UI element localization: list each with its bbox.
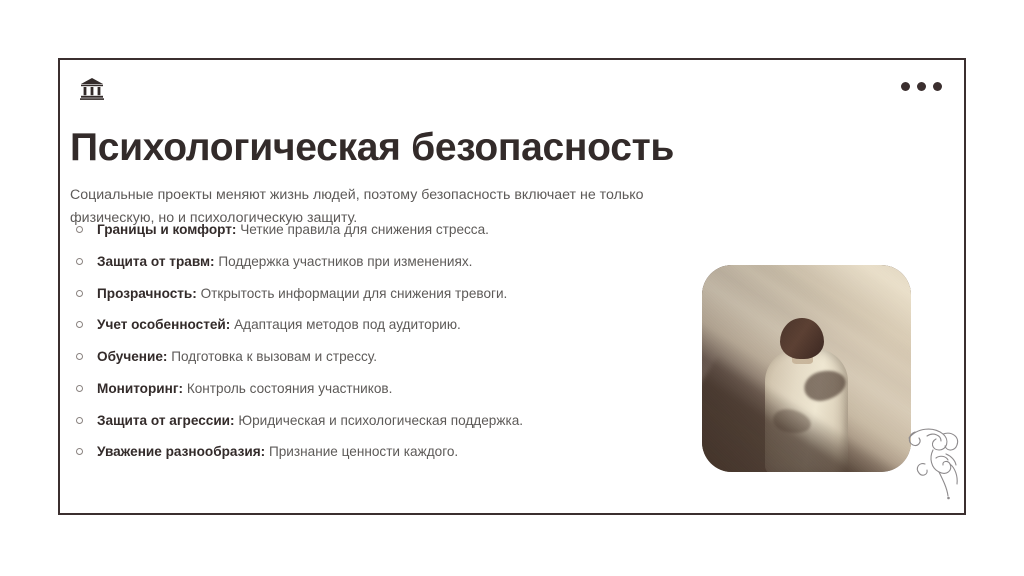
bullet-circle-icon (76, 417, 83, 424)
bullet-circle-icon (76, 226, 83, 233)
list-item-term: Уважение разнообразия: (97, 444, 265, 459)
principles-list: Границы и комфорт: Четкие правила для сн… (72, 221, 692, 475)
list-item-desc: Поддержка участников при изменениях. (215, 254, 473, 269)
list-item: Защита от агрессии: Юридическая и психол… (72, 412, 692, 429)
list-item: Учет особенностей: Адаптация методов под… (72, 316, 692, 333)
list-item-desc: Адаптация методов под аудиторию. (230, 317, 461, 332)
bullet-circle-icon (76, 385, 83, 392)
list-item-desc: Открытость информации для снижения трево… (197, 286, 508, 301)
list-item: Уважение разнообразия: Признание ценност… (72, 443, 692, 460)
ellipsis-dot-1 (901, 82, 910, 91)
list-item-term: Прозрачность: (97, 286, 197, 301)
bank-building-icon (78, 74, 106, 102)
list-item-term: Защита от травм: (97, 254, 215, 269)
bullet-circle-icon (76, 290, 83, 297)
list-item: Мониторинг: Контроль состояния участнико… (72, 380, 692, 397)
list-item-term: Границы и комфорт: (97, 222, 236, 237)
list-item-desc: Контроль состояния участников. (183, 381, 392, 396)
self-embrace-photo (702, 265, 911, 472)
page-title: Психологическая безопасность (70, 127, 770, 170)
list-item-desc: Юридическая и психологическая поддержка. (235, 413, 523, 428)
list-item: Границы и комфорт: Четкие правила для сн… (72, 221, 692, 238)
slide-canvas: Психологическая безопасность Социальные … (0, 0, 1024, 576)
list-item: Прозрачность: Открытость информации для … (72, 285, 692, 302)
list-item-desc: Признание ценности каждого. (265, 444, 458, 459)
ellipsis-dot-3 (933, 82, 942, 91)
bullet-circle-icon (76, 321, 83, 328)
list-item: Обучение: Подготовка к вызовам и стрессу… (72, 348, 692, 365)
ellipsis-icon[interactable] (901, 82, 942, 91)
ellipsis-dot-2 (917, 82, 926, 91)
list-item: Защита от травм: Поддержка участников пр… (72, 253, 692, 270)
photo-grain-overlay (702, 265, 911, 472)
list-item-term: Мониторинг: (97, 381, 183, 396)
list-item-term: Защита от агрессии: (97, 413, 235, 428)
bullet-circle-icon (76, 448, 83, 455)
bullet-circle-icon (76, 353, 83, 360)
bullet-circle-icon (76, 258, 83, 265)
list-item-term: Обучение: (97, 349, 167, 364)
list-item-term: Учет особенностей: (97, 317, 230, 332)
list-item-desc: Подготовка к вызовам и стрессу. (167, 349, 377, 364)
list-item-desc: Четкие правила для снижения стресса. (236, 222, 488, 237)
